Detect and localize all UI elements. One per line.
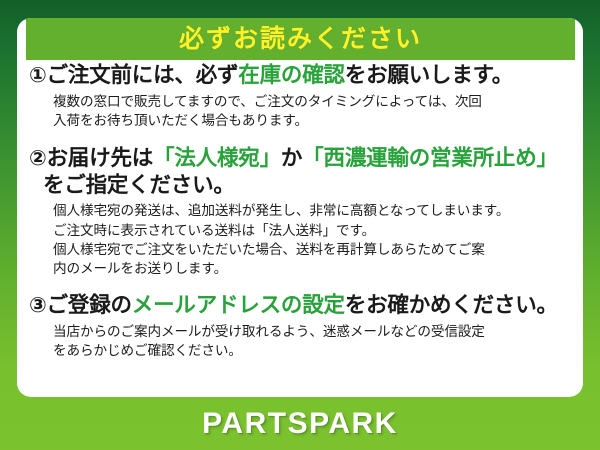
notice-card: 必ずお読みください ①ご注文前には、必ず在庫の確認をお願いします。 複数の窓口で… (17, 18, 583, 397)
item-2-subline-1: 個人様宅宛の発送は、追加送料が発生し、非常に高額となってしまいます。 (53, 201, 573, 220)
item-2-heading-line2: をご指定ください。 (29, 172, 573, 199)
item-3-highlight: メールアドレスの設定 (132, 293, 345, 317)
item-1-text-b: をお願いします。 (345, 63, 513, 87)
page-title: 必ずお読みください (179, 27, 422, 52)
item-3-text-b: をお確かめください。 (345, 293, 558, 317)
item-2-subline-4: 内のメールをお送りします。 (53, 259, 573, 278)
item-1-highlight: 在庫の確認 (238, 63, 345, 87)
item-2-subline-3: 個人様宅宛でご注文をいただいた場合、送料を再計算しあらためてご案 (53, 240, 573, 259)
brand-logo: PARTSPARK (202, 409, 398, 439)
notice-item-3: ③ご登録のメールアドレスの設定をお確かめください。 当店からのご案内メールが受け… (29, 292, 573, 361)
notice-item-2: ②お届け先は「法人様宛」か「西濃運輸の営業所止め」 をご指定ください。 個人様宅… (29, 145, 573, 279)
notice-body: ①ご注文前には、必ず在庫の確認をお願いします。 複数の窓口で販売してますので、ご… (17, 62, 583, 362)
footer: PARTSPARK (0, 397, 600, 450)
item-1-number: ① (29, 64, 47, 87)
item-2-highlight-2: 「西濃運輸の営業所止め」 (302, 146, 558, 170)
item-2-subtext: 個人様宅宛の発送は、追加送料が発生し、非常に高額となってしまいます。 ご注文時に… (29, 201, 573, 278)
item-1-heading: ①ご注文前には、必ず在庫の確認をお願いします。 (29, 62, 573, 89)
item-2-number: ② (29, 147, 47, 170)
item-3-text-a: ご登録の (47, 293, 132, 317)
item-2-highlight-1: 「法人様宛」 (153, 146, 281, 170)
notice-banner: 必ずお読みください ①ご注文前には、必ず在庫の確認をお願いします。 複数の窓口で… (0, 0, 600, 450)
item-1-text-a: ご注文前には、必ず (47, 63, 239, 87)
notice-item-1: ①ご注文前には、必ず在庫の確認をお願いします。 複数の窓口で販売してますので、ご… (29, 62, 573, 131)
item-1-subline-1: 複数の窓口で販売してますので、ご注文のタイミングによっては、次回 (53, 92, 573, 111)
item-2-text-b: か (281, 146, 302, 170)
item-3-subline-2: をあらかじめご確認ください。 (53, 341, 573, 360)
item-1-subtext: 複数の窓口で販売してますので、ご注文のタイミングによっては、次回 入荷をお待ち頂… (29, 92, 573, 131)
item-2-text-a: お届け先は (47, 146, 154, 170)
item-2-heading: ②お届け先は「法人様宛」か「西濃運輸の営業所止め」 (29, 145, 573, 172)
item-3-subtext: 当店からのご案内メールが受け取れるよう、迷惑メールなどの受信設定 をあらかじめご… (29, 322, 573, 361)
item-3-subline-1: 当店からのご案内メールが受け取れるよう、迷惑メールなどの受信設定 (53, 322, 573, 341)
item-2-subline-2: ご注文時に表示されている送料は「法人送料」です。 (53, 221, 573, 240)
header-bar: 必ずお読みください (26, 18, 575, 60)
item-3-number: ③ (29, 294, 47, 317)
item-1-subline-2: 入荷をお待ち頂いただく場合もあります。 (53, 111, 573, 130)
item-3-heading: ③ご登録のメールアドレスの設定をお確かめください。 (29, 292, 573, 319)
